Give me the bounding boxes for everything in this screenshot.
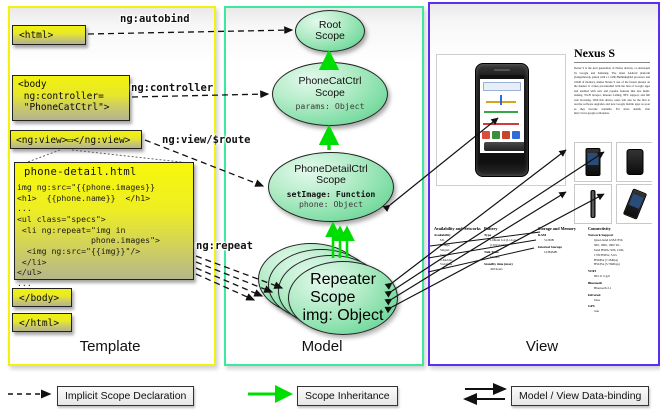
thumbnail-4[interactable]: [616, 184, 652, 224]
app-icon-3: [502, 131, 510, 139]
thumb-phone-side: [591, 190, 596, 218]
spec-val-1-2: 428 hours: [484, 267, 536, 272]
panel-label-template: Template: [8, 338, 212, 355]
spec-col-battery: Battery Type Lithium Ion (Li-Ion)(1500 m…: [484, 226, 536, 271]
title-underline: [574, 62, 650, 63]
scope-cat-props: params: Object: [295, 102, 364, 112]
thumbnail-3[interactable]: [574, 184, 612, 224]
spec-col-connectivity: Connectivity Network Support Quad-band G…: [588, 226, 650, 314]
phone-speaker: [494, 69, 510, 71]
code-tag-html-close: </html>: [12, 313, 72, 332]
spec-header-0: Availability and Networks: [434, 226, 482, 231]
scope-rep-line2: Scope: [310, 289, 355, 306]
label-ng-autobind: ng:autobind: [120, 13, 190, 25]
app-icon-1: [482, 131, 490, 139]
thumbnail-1[interactable]: [574, 142, 612, 182]
app-icon-2: [492, 131, 500, 139]
spec-val-3-2: Bluetooth 2.1: [588, 286, 650, 291]
scope-root: Root Scope: [295, 10, 365, 52]
spec-header-3: Connectivity: [588, 226, 650, 231]
code-tag-body-close: </body>: [12, 288, 72, 307]
spec-val-2-0: 512MB: [538, 238, 586, 243]
product-description: Nexus S is the next generation of Nexus …: [574, 66, 650, 116]
scope-rep-line1: Repeater: [310, 271, 376, 288]
spec-val-1-1: 6 hours: [484, 255, 536, 260]
scope-root-line2: Scope: [315, 30, 345, 42]
scope-phonecatctrl: PhoneCatCtrl Scope params: Object: [272, 62, 388, 126]
scope-cat-line2: Scope: [315, 87, 345, 99]
detail-template-filename: phone-detail.html: [24, 166, 137, 178]
map-road-2: [484, 111, 518, 113]
spec-val-0-0: M1,Orange,Singtel,Telcel,T-Mobile,Vodafo…: [434, 238, 482, 267]
thumb-phone-front: [586, 148, 601, 176]
legend-label-databinding: Model / View Data-binding: [511, 386, 649, 406]
map-road-4: [500, 95, 502, 105]
legend: Implicit Scope Declaration Scope Inherit…: [0, 372, 660, 416]
spec-table: Availability and Networks Availability M…: [432, 226, 652, 322]
phone-urlbar: [483, 82, 521, 91]
phone-navbar: [484, 142, 524, 151]
spec-header-1: Battery: [484, 226, 536, 231]
thumbnail-2[interactable]: [616, 142, 652, 182]
app-icon-4: [512, 131, 520, 139]
map-road-3: [483, 123, 519, 125]
label-ng-repeat: ng:repeat: [196, 240, 253, 252]
product-title: Nexus S: [574, 46, 615, 61]
phone-statusbar: [480, 75, 524, 79]
phone-app-icons: [482, 131, 520, 139]
spec-col-availability: Availability and Networks Availability M…: [434, 226, 482, 267]
label-ng-controller: ng:controller: [131, 82, 213, 94]
legend-label-inheritance: Scope Inheritance: [297, 386, 398, 406]
spec-col-storage: Storage and Memory RAM 512MB Internal St…: [538, 226, 586, 255]
view-rendered-page: Nexus S Nexus S is the next generation o…: [432, 22, 652, 342]
diagram-canvas: Template Model View <html> <body ng:cont…: [0, 0, 660, 420]
label-ng-view-route: ng:view/$route: [162, 134, 251, 146]
detail-template-code: img ng:src="{{phone.images}} <h1> {{phon…: [17, 182, 193, 289]
scope-detail-line2: Scope: [316, 174, 346, 186]
phone-screen: [480, 75, 524, 153]
spec-val-3-1: 802.11 b/g/n: [588, 274, 650, 279]
thumb-phone-angled: [623, 188, 647, 220]
scope-phonedetailctrl: PhoneDetailCtrl Scope setImage: Function…: [268, 152, 394, 222]
spec-val-3-0: Quad-band GSM: 850,900, 1800, 1900 Tri-b…: [588, 238, 650, 267]
spec-val-3-4: true: [588, 309, 650, 314]
code-tag-html: <html>: [12, 25, 86, 45]
phone-hero-image-frame: [436, 54, 566, 186]
thumb-phone-back: [627, 149, 644, 175]
scope-detail-props: phone: Object: [299, 200, 363, 210]
code-tag-ngview: <ng:view>▭</ng:view>: [10, 130, 142, 149]
legend-label-implicit: Implicit Scope Declaration: [57, 386, 194, 406]
spec-val-3-3: false: [588, 298, 650, 303]
spec-val-1-0: Lithium Ion (Li-Ion)(1500 mAh): [484, 238, 536, 248]
spec-val-2-1: 16384MB: [538, 250, 586, 255]
phone-device-image: [475, 63, 529, 177]
panel-label-model: Model: [224, 338, 420, 355]
code-tag-body: <body ng:controller= "PhoneCatCtrl">: [12, 75, 130, 121]
spec-header-2: Storage and Memory: [538, 226, 586, 231]
scope-rep-props: img: Object: [303, 307, 384, 325]
scope-repeater: Repeater Scope img: Object: [288, 261, 398, 335]
